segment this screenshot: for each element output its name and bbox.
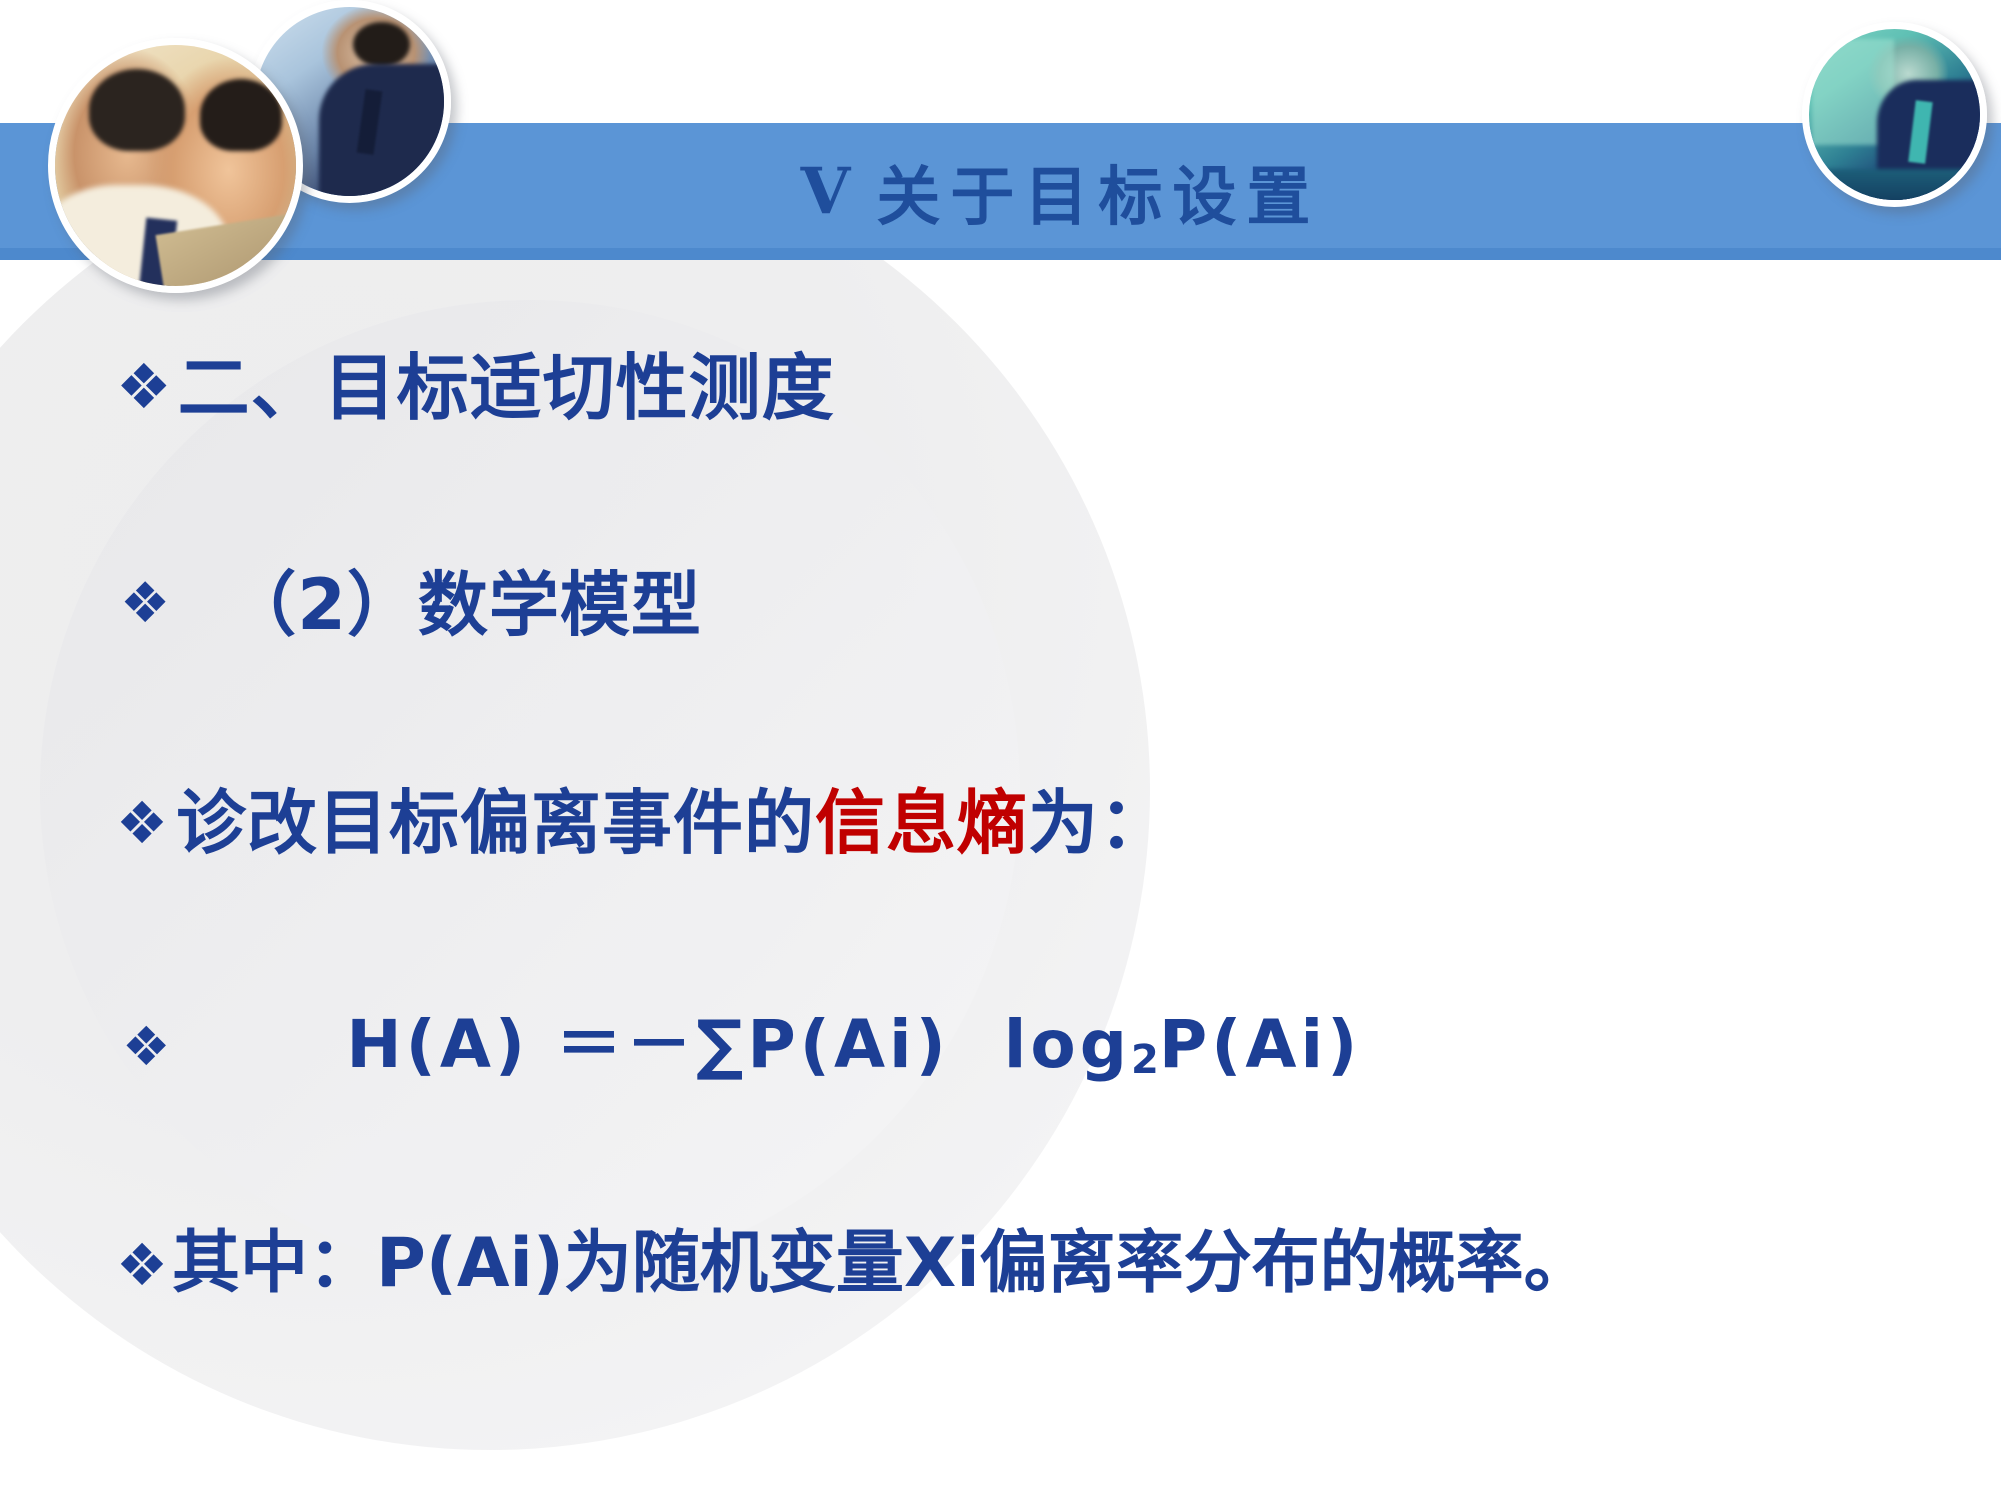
bullet-item-5: ❖ 其中：P(Ai)为随机变量Xi偏离率分布的概率。 [116,1230,1592,1298]
diamond-bullet-icon: ❖ [116,356,172,418]
bullet-item-3-label-after: 为： [1028,788,1170,858]
formula-term-1: P(Ai) [747,1006,976,1083]
title-roman-numeral: Ⅴ [801,154,851,229]
photo-office-pair [48,38,303,293]
formula-lhs: H(A) [346,1006,556,1083]
slide-body: ❖ 二、目标适切性测度 ❖ （2）数学模型 ❖ 诊改目标偏离事件的信息熵为： ❖… [0,260,2001,1501]
diamond-bullet-icon: ❖ [120,576,170,632]
diamond-bullet-icon: ❖ [122,1020,170,1074]
bullet-item-1: ❖ 二、目标适切性测度 [116,352,835,424]
entropy-formula: H(A) ＝－∑P(Ai) log2P(Ai) [346,1012,1361,1078]
bullet-item-3: ❖ 诊改目标偏离事件的信息熵为： [116,788,1170,858]
formula-sigma: ∑ [696,1006,747,1083]
presentation-slide: Ⅴ关于目标设置 ❖ 二、目标适切性测度 [0,0,2001,1501]
formula-minus: － [626,1006,696,1083]
photo-presenter [1802,22,1987,207]
bullet-item-3-highlight: 信息熵 [815,788,1028,858]
bullet-item-3-label-before: 诊改目标偏离事件的 [176,788,815,858]
diamond-bullet-icon: ❖ [116,1236,168,1294]
title-text: 关于目标设置 [876,146,1320,238]
formula-log: log [1004,1006,1131,1083]
bullet-item-4-formula: ❖ H(A) ＝－∑P(Ai) log2P(Ai) [122,1012,1361,1078]
formula-equals: ＝ [556,1006,626,1083]
formula-log-base: 2 [1131,1037,1159,1083]
bullet-item-2-label: （2）数学模型 [226,570,702,640]
bullet-item-2: ❖ （2）数学模型 [120,570,702,640]
formula-term-2: P(Ai) [1159,1006,1361,1083]
bullet-item-1-label: 二、目标适切性测度 [178,352,835,424]
bullet-item-5-label: 其中：P(Ai)为随机变量Xi偏离率分布的概率。 [172,1230,1592,1298]
diamond-bullet-icon: ❖ [116,794,168,852]
